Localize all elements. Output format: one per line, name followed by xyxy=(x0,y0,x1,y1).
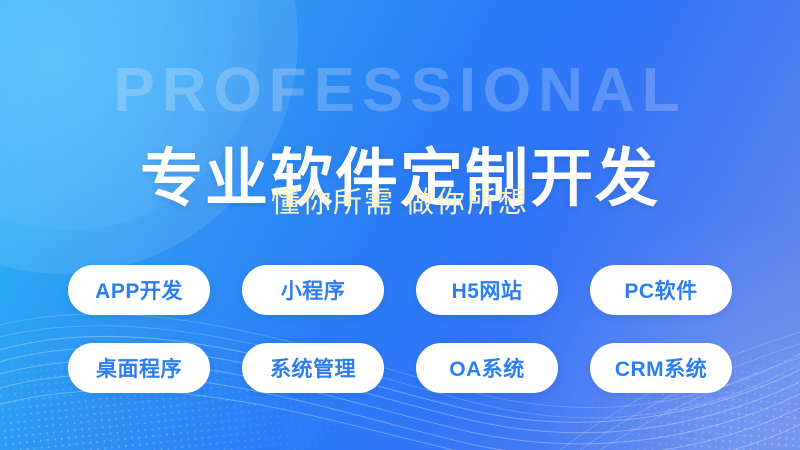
service-tag-pc-software[interactable]: PC软件 xyxy=(590,265,732,315)
watermark-text: PROFESSIONAL xyxy=(0,60,800,122)
service-tag-h5-website[interactable]: H5网站 xyxy=(416,265,558,315)
service-tag-desktop-program[interactable]: 桌面程序 xyxy=(68,343,210,393)
service-tag-grid: APP开发 小程序 H5网站 PC软件 桌面程序 系统管理 OA系统 CRM系统 xyxy=(68,265,732,393)
service-tag-miniprogram[interactable]: 小程序 xyxy=(242,265,384,315)
banner-content: PROFESSIONAL 专业软件定制开发 懂你所需 做你所想 APP开发 小程… xyxy=(0,0,800,450)
subtitle: 懂你所需 做你所想 xyxy=(0,186,800,221)
service-tag-crm-system[interactable]: CRM系统 xyxy=(590,343,732,393)
service-tag-oa-system[interactable]: OA系统 xyxy=(416,343,558,393)
service-tag-system-management[interactable]: 系统管理 xyxy=(242,343,384,393)
service-tag-app[interactable]: APP开发 xyxy=(68,265,210,315)
promo-banner: PROFESSIONAL 专业软件定制开发 懂你所需 做你所想 APP开发 小程… xyxy=(0,0,800,450)
